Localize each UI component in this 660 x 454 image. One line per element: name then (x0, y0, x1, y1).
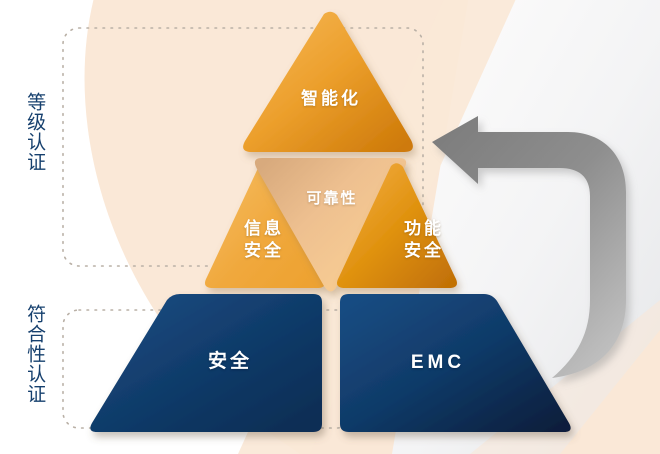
side-label-grade-certification: 等级认证 (24, 92, 44, 172)
pyramid-shapes-layer (0, 0, 660, 454)
block-emc-shape[interactable] (340, 294, 571, 432)
diagram-canvas: 等级认证 符合性认证 智能化 可靠性 信息 安全 功能 安全 安全 EMC (0, 0, 660, 454)
block-intelligent-shape[interactable] (243, 12, 413, 152)
block-safety-shape[interactable] (90, 294, 322, 432)
side-label-compliance-certification: 符合性认证 (24, 304, 44, 404)
